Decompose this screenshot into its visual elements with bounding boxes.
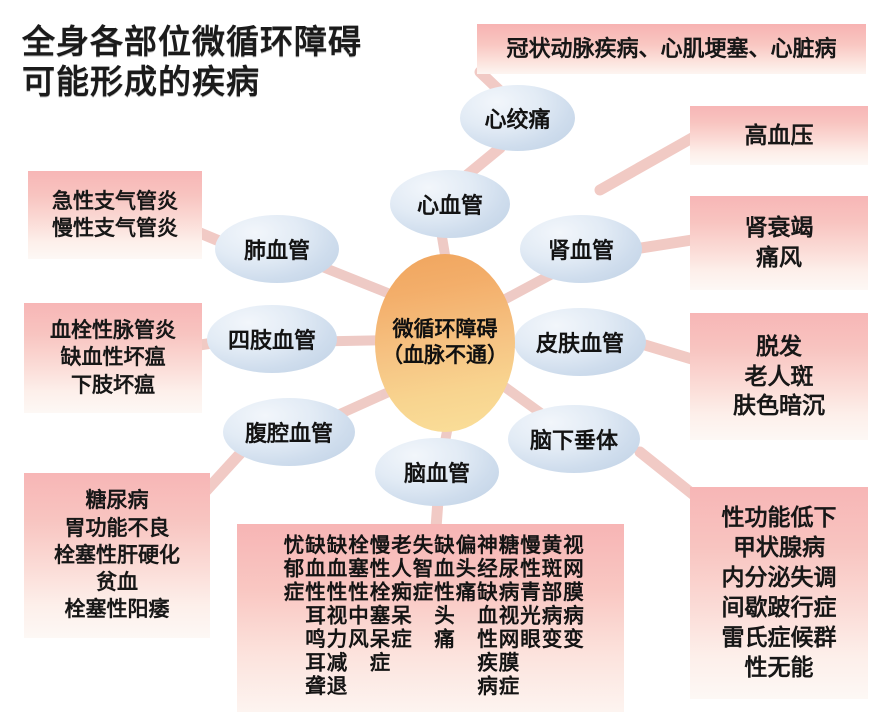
brain-column: 视网膜病变 xyxy=(560,534,581,652)
disease-box-kidney: 肾衰竭 痛风 xyxy=(690,196,868,290)
brain-column: 栓塞性中风 xyxy=(345,534,366,652)
brain-column: 慢性栓塞呆症 xyxy=(367,534,388,675)
brain-column: 忧郁症 xyxy=(281,534,302,605)
line-cardio-to-hypertension xyxy=(600,138,692,190)
disease-box-diabetes: 糖尿病 胃功能不良 栓塞性肝硬化 贫血 栓塞性阳痿 xyxy=(24,473,210,638)
line-skin-to-skinissues xyxy=(645,345,695,360)
node-limbs[interactable]: 四肢血管 xyxy=(207,305,337,373)
center-node-microcirculation[interactable]: 微循环障碍 （血脉不通） xyxy=(375,254,515,432)
brain-column: 黄斑部病变 xyxy=(539,534,560,652)
node-skin[interactable]: 皮肤血管 xyxy=(514,308,646,376)
disease-box-thrombosis: 血栓性脉管炎 缺血性坏瘟 下肢坏瘟 xyxy=(24,303,202,413)
disease-box-endocrine: 性功能低下 甲状腺病 内分泌失调 间歇跛行症 雷氏症候群 性无能 xyxy=(690,487,868,699)
node-pituitary[interactable]: 脑下垂体 xyxy=(508,405,640,473)
disease-box-bronchitis: 急性支气管炎 慢性支气管炎 xyxy=(28,171,202,259)
node-pulmonary[interactable]: 肺血管 xyxy=(215,215,339,283)
node-abdominal[interactable]: 腹腔血管 xyxy=(223,398,355,466)
brain-column: 缺血性耳鸣耳聋 xyxy=(302,534,323,699)
brain-disease-box: 忧郁症缺血性耳鸣耳聋缺血性视力减退栓塞性中风慢性栓塞呆症老人痴呆症失智症缺血性头… xyxy=(237,524,624,712)
brain-column: 失智症 xyxy=(410,534,431,605)
node-heart-pain[interactable]: 心绞痛 xyxy=(460,85,575,151)
node-cerebral[interactable]: 脑血管 xyxy=(375,438,499,506)
brain-column: 老人痴呆症 xyxy=(388,534,409,652)
node-cardiovascular[interactable]: 心血管 xyxy=(390,170,510,238)
disease-box-skin-issues: 脱发 老人斑 肤色暗沉 xyxy=(690,313,868,440)
brain-column: 缺血性视力减退 xyxy=(324,534,345,699)
brain-column: 糖尿病视网膜症 xyxy=(496,534,517,699)
brain-column: 缺血性头痛 xyxy=(431,534,452,652)
brain-column: 慢性青光眼 xyxy=(517,534,538,652)
page-title: 全身各部位微循环障碍 可能形成的疾病 xyxy=(22,22,442,103)
brain-column: 神经缺血性疾病 xyxy=(474,534,495,699)
brain-column: 偏头痛 xyxy=(453,534,474,605)
disease-box-coronary: 冠状动脉疾病、心肌埂塞、心脏病 xyxy=(477,24,866,74)
infographic-canvas: 全身各部位微循环障碍 可能形成的疾病 冠状动脉疾病、心肌埂塞、心脏病 高血压 肾… xyxy=(0,0,875,726)
node-renal[interactable]: 肾血管 xyxy=(520,215,642,283)
disease-box-hypertension: 高血压 xyxy=(690,106,868,165)
